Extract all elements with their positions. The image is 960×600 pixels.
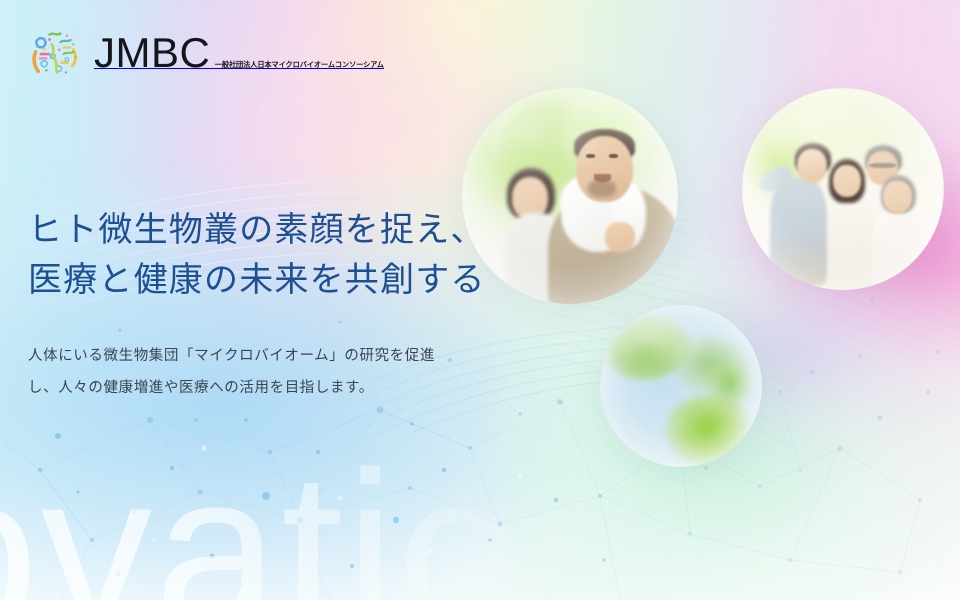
logo-typography: JMBC 一般社団法人日本マイクロバイオームコンソーシアム (94, 32, 384, 74)
hero-headline-line-1: ヒト微生物叢の素顔を捉え、 (28, 206, 588, 256)
hero-banner: ovation (0, 0, 960, 600)
bubble-two-photo (742, 88, 944, 290)
hero-copy: ヒト微生物叢の素顔を捉え、 医療と健康の未来を共創する 人体にいる微生物集団「マ… (28, 206, 588, 405)
hero-headline-line-2: 医療と健康の未来を共創する (28, 256, 588, 306)
hero-lede-line-1: 人体にいる微生物集団「マイクロバイオーム」の研究を促進 (28, 341, 588, 373)
bubble-photo-family (742, 88, 944, 290)
bubble-photo-foliage (600, 305, 762, 467)
hero-lede: 人体にいる微生物集団「マイクロバイオーム」の研究を促進 し、人々の健康増進や医療… (28, 341, 588, 405)
microbiome-cluster-icon (28, 26, 82, 80)
logo-wordmark: JMBC (94, 29, 210, 76)
hero-lede-line-2: し、人々の健康増進や医療への活用を目指します。 (28, 373, 588, 405)
site-logo[interactable]: JMBC 一般社団法人日本マイクロバイオームコンソーシアム (28, 26, 384, 80)
logo-subtitle: 一般社団法人日本マイクロバイオームコンソーシアム (215, 60, 384, 69)
bubble-three-photo (600, 305, 762, 467)
hero-headline: ヒト微生物叢の素顔を捉え、 医療と健康の未来を共創する (28, 206, 588, 305)
background-watermark-text: ovation (0, 445, 650, 600)
